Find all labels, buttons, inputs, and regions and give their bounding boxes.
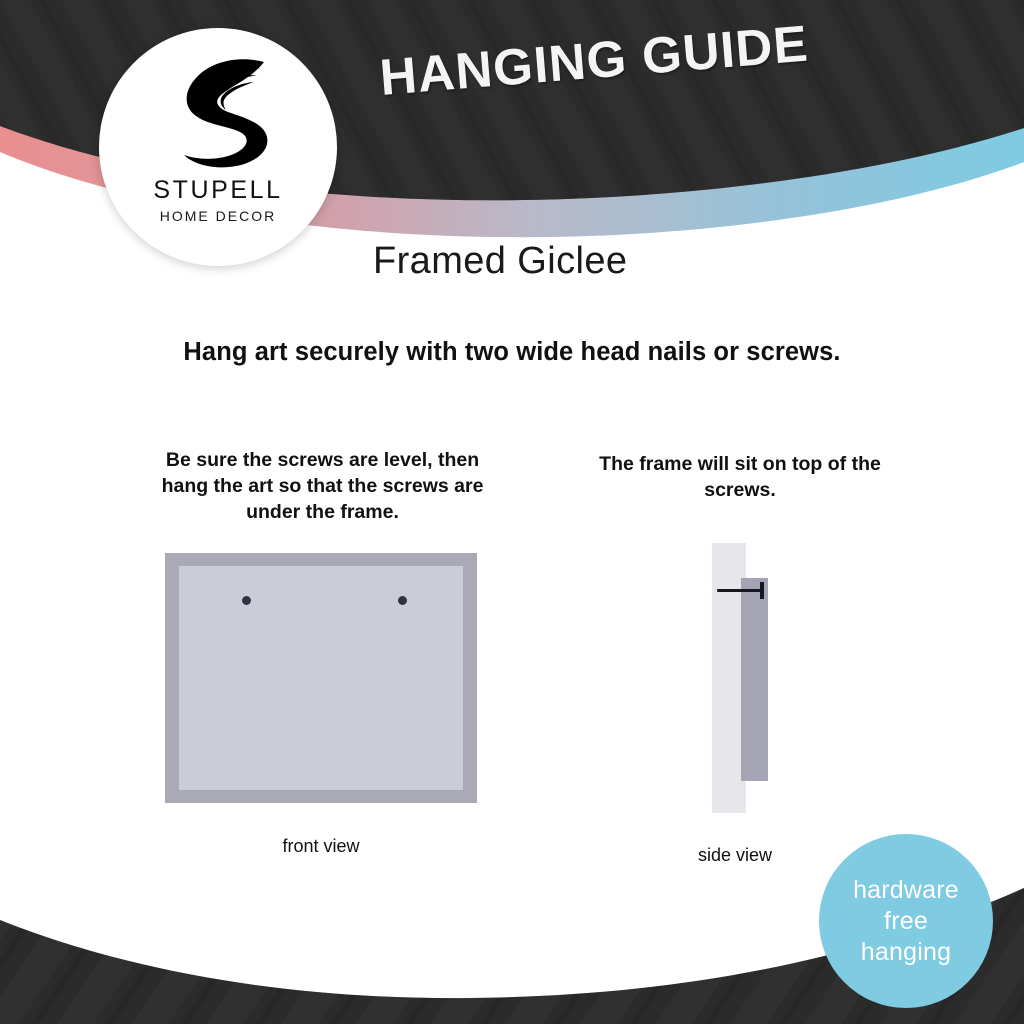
front-view-label: front view <box>171 836 471 857</box>
badge-line-2: free <box>884 906 928 937</box>
main-instruction-text: Hang art securely with two wide head nai… <box>0 338 1024 367</box>
nail-shaft-icon <box>717 589 764 592</box>
side-view-diagram <box>705 543 780 813</box>
front-view-caption: Be sure the screws are level, then hang … <box>150 447 495 525</box>
logo-brand-tagline: HOME DECOR <box>160 208 276 224</box>
stupell-logo-badge: STUPELL HOME DECOR <box>99 28 337 266</box>
badge-line-1: hardware <box>853 875 959 906</box>
hardware-free-hanging-badge: hardware free hanging <box>819 834 993 1008</box>
product-subtitle: Framed Giclee <box>373 240 627 283</box>
stupell-swirl-s-logo-icon <box>154 54 282 172</box>
front-view-art-panel <box>179 566 463 790</box>
logo-brand-name: STUPELL <box>153 176 282 205</box>
nail-head-icon <box>760 582 764 599</box>
badge-line-3: hanging <box>861 937 951 968</box>
side-view-caption: The frame will sit on top of the screws. <box>596 451 884 503</box>
side-view-label: side view <box>643 845 827 866</box>
front-view-diagram <box>165 553 477 803</box>
screw-dot-left-icon <box>242 596 251 605</box>
side-view-frame <box>741 578 768 781</box>
screw-dot-right-icon <box>398 596 407 605</box>
hanging-guide-page: STUPELL HOME DECOR HANGING GUIDE Framed … <box>0 0 1024 1024</box>
page-title: HANGING GUIDE <box>378 14 811 107</box>
